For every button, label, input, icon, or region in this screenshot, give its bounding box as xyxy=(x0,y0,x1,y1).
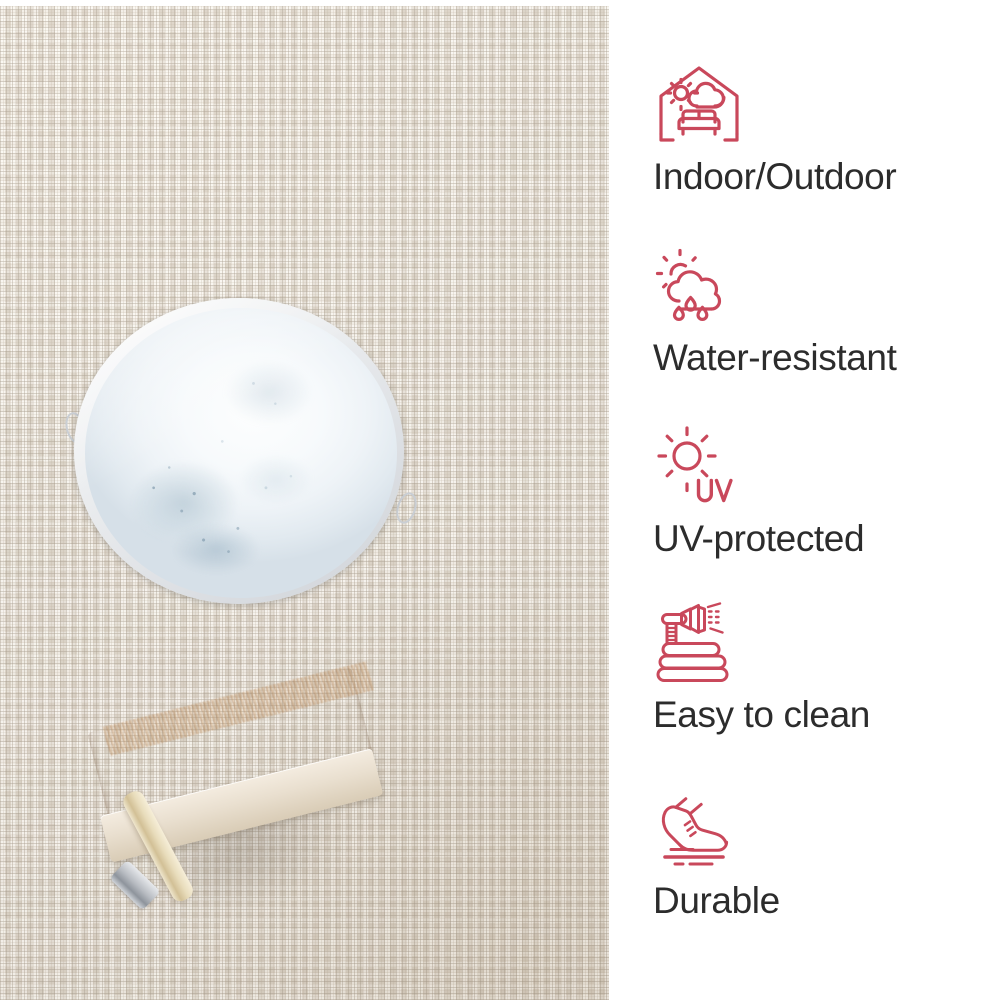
feature-label-easy-to-clean: Easy to clean xyxy=(653,696,993,735)
feature-list: Indoor/Outdoor Water-resistant xyxy=(609,0,1000,1000)
feature-item-water-resistant: Water-resistant xyxy=(653,243,993,378)
sun-cloud-rain-icon xyxy=(653,243,993,335)
feature-item-indoor-outdoor: Indoor/Outdoor xyxy=(653,62,993,197)
feature-label-uv-protected: UV-protected xyxy=(653,520,993,559)
foam-bubbles xyxy=(85,308,397,598)
bucket-foam-surface xyxy=(85,308,397,598)
house-sun-cloud-sofa-icon xyxy=(653,62,993,154)
scrub-brush xyxy=(78,724,398,1000)
product-feature-graphic: Indoor/Outdoor Water-resistant xyxy=(0,0,1000,1000)
feature-label-durable: Durable xyxy=(653,882,993,921)
feature-item-durable: Durable xyxy=(653,786,993,921)
feature-label-indoor-outdoor: Indoor/Outdoor xyxy=(653,158,993,197)
running-shoe-icon xyxy=(653,786,993,878)
feature-item-easy-to-clean: Easy to clean xyxy=(653,600,993,735)
feature-item-uv-protected: UV-protected xyxy=(653,424,993,559)
sun-uv-icon xyxy=(653,424,993,516)
feature-label-water-resistant: Water-resistant xyxy=(653,339,993,378)
garden-hose-spray-icon xyxy=(653,600,993,692)
product-photo xyxy=(0,6,609,1000)
bucket-rim xyxy=(74,298,404,604)
soapy-water-bucket xyxy=(72,296,408,616)
